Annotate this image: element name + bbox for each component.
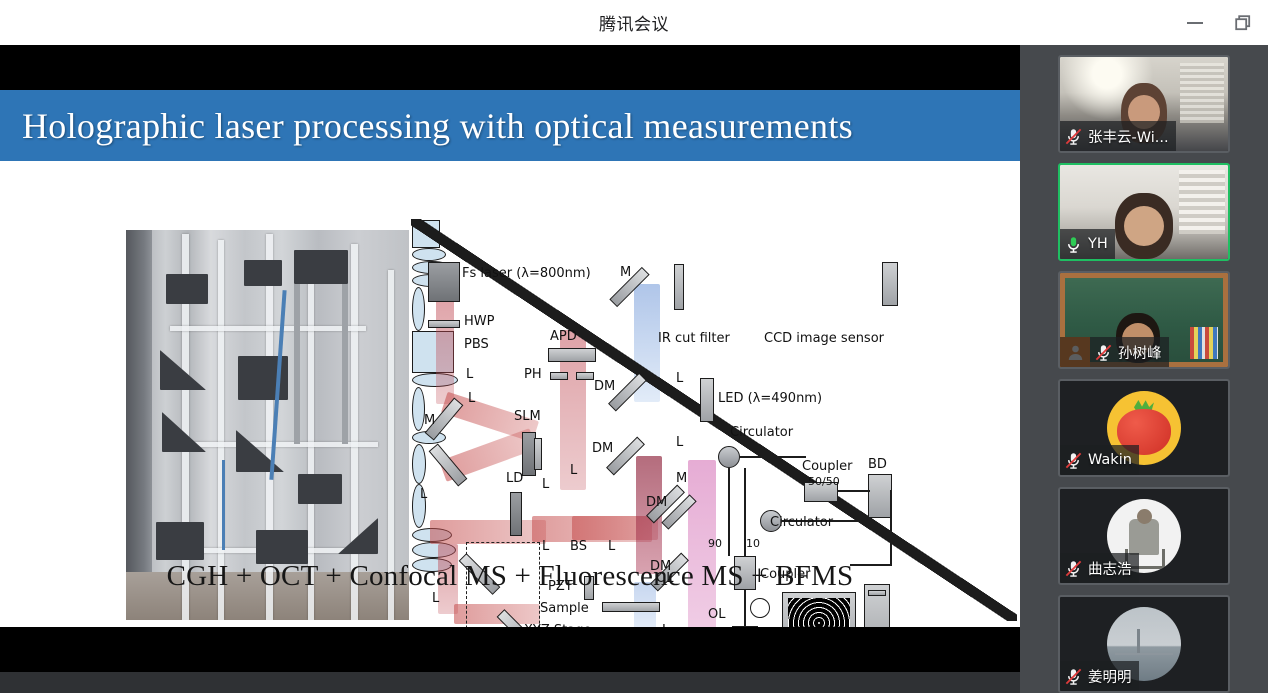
participant-footer: 张丰云-Wi... <box>1060 121 1176 151</box>
participant-tile-yh[interactable]: YH <box>1058 163 1230 261</box>
diagram-label-l-4: L <box>542 540 549 554</box>
participant-tile-jiangmingming[interactable]: 姜明明 <box>1058 595 1230 693</box>
diagram-label-xyz-stage: XYZ Stage <box>524 624 591 627</box>
mic-off-icon <box>1094 343 1113 362</box>
diagram-label-l-7: L <box>608 540 615 554</box>
participant-sidebar[interactable]: 张丰云-Wi... YH <box>1020 45 1268 693</box>
mic-off-icon <box>1064 667 1083 686</box>
diagram-label-l-1: L <box>466 368 473 382</box>
mic-off-icon <box>1064 127 1083 146</box>
window-controls <box>1184 0 1254 45</box>
participant-tile-wakin[interactable]: Wakin <box>1058 379 1230 477</box>
participant-footer: 姜明明 <box>1060 661 1139 691</box>
minimize-button[interactable] <box>1184 12 1206 34</box>
diagram-label-ratio-90: 90 <box>708 538 722 550</box>
participant-footer: Wakin <box>1060 445 1139 475</box>
diagram-label-apd: APD <box>550 330 577 344</box>
diagram-label-l-2: L <box>468 392 475 406</box>
mic-off-icon <box>1064 451 1083 470</box>
participant-name: YH <box>1088 236 1108 252</box>
diagram-label-pbs: PBS <box>464 338 489 352</box>
slide-title: Holographic laser processing with optica… <box>0 105 853 147</box>
participant-name: 张丰云-Wi... <box>1088 126 1169 147</box>
participant-name: Wakin <box>1088 452 1132 468</box>
participant-name: 孙树峰 <box>1118 342 1162 363</box>
diagram-label-l-5: L <box>420 488 427 502</box>
diagram-label-l-11: L <box>676 436 683 450</box>
diagram-label-l-6: L <box>432 592 439 606</box>
diagram-label-ir-cut-filter: IR cut filter <box>658 332 730 346</box>
diagram-label-ratio-10: 10 <box>746 538 760 550</box>
mic-off-icon <box>1064 559 1083 578</box>
diagram-label-dm-1: DM <box>594 380 615 394</box>
diagram-label-circulator-1: Circulator <box>730 426 793 440</box>
diagram-label-m-4: M <box>676 472 687 486</box>
diagram-label-bd: BD <box>868 458 887 472</box>
diagram-label-ph: PH <box>524 368 542 382</box>
slide-title-banner: Holographic laser processing with optica… <box>0 90 1020 161</box>
participant-tile-zhangfengyun[interactable]: 张丰云-Wi... <box>1058 55 1230 153</box>
participant-tile-sunshufeng[interactable]: 孙树峰 <box>1058 271 1230 369</box>
diagram-label-l-10: L <box>676 372 683 386</box>
diagram-label-l-8: L <box>570 464 577 478</box>
participant-name: 曲志浩 <box>1088 558 1132 579</box>
diagram-label-sample: Sample <box>540 602 589 616</box>
mic-on-icon <box>1064 235 1083 254</box>
meeting-window: 腾讯会议 Holographic laser processing with o… <box>0 0 1268 693</box>
diagram-label-l-3: L <box>542 478 549 492</box>
diagram-label-ccd-image-sensor: CCD image sensor <box>764 332 884 346</box>
shared-screen-area[interactable]: Holographic laser processing with optica… <box>0 45 1020 672</box>
diagram-label-ld: LD <box>506 472 523 486</box>
diagram-label-m-3: M <box>620 266 631 280</box>
diagram-label-circulator-2: Circulator <box>770 516 833 530</box>
participant-name: 姜明明 <box>1088 666 1132 687</box>
diagram-label-hwp: HWP <box>464 315 494 329</box>
diagram-label-ol-2: OL <box>708 608 725 622</box>
diagram-label-dm-2: DM <box>592 442 613 456</box>
diagram-label-coupler-ratio: 50/50 <box>808 476 840 488</box>
diagram-label-bs: BS <box>570 540 587 554</box>
participant-footer: 孙树峰 <box>1060 337 1169 367</box>
diagram-label-led: LED (λ=490nm) <box>718 392 822 406</box>
presentation-slide: Holographic laser processing with optica… <box>0 90 1020 627</box>
participant-footer: 曲志浩 <box>1060 553 1139 583</box>
participant-tile-quzhihao[interactable]: 曲志浩 <box>1058 487 1230 585</box>
participant-footer: YH <box>1060 229 1115 259</box>
slide-caption: CGH + OCT + Confocal MS + Fluorescence M… <box>0 560 1020 593</box>
app-title: 腾讯会议 <box>599 10 669 35</box>
diagram-label-l-12: L <box>662 624 669 627</box>
diagram-label-slm: SLM <box>514 410 541 424</box>
diagram-label-m-1: M <box>424 414 435 428</box>
title-bar: 腾讯会议 <box>0 0 1268 45</box>
diagram-label-coupler-1: Coupler <box>802 460 852 474</box>
diagram-label-dm-3: DM <box>646 496 667 510</box>
diagram-label-fs-laser: Fs laser (λ=800nm) <box>462 267 591 281</box>
restore-window-button[interactable] <box>1232 12 1254 34</box>
